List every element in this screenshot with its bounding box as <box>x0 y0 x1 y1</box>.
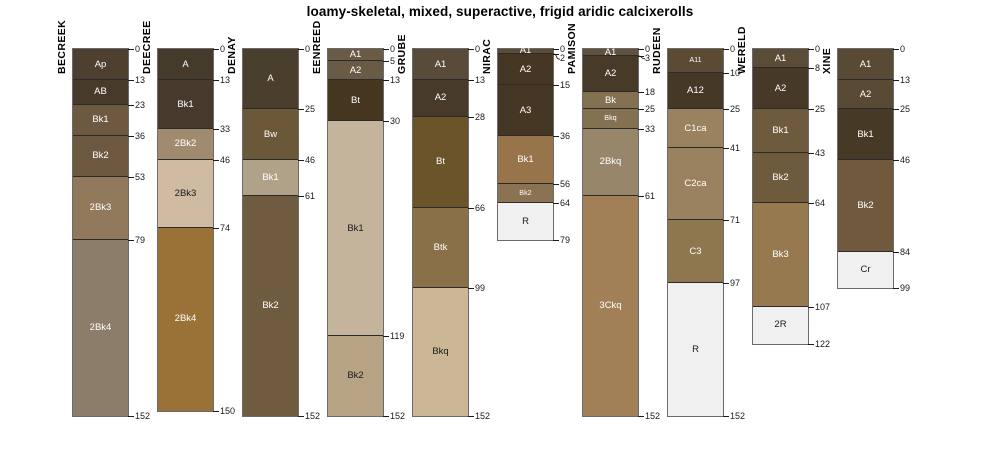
horizon-label: Bw <box>243 130 298 140</box>
depth-tick-label: 30 <box>390 117 400 126</box>
horizon-label: A2 <box>838 90 893 100</box>
depth-tick-mark <box>468 288 474 289</box>
depth-tick-label: 0 <box>220 45 225 54</box>
depth-tick-label: 61 <box>645 192 655 201</box>
depth-tick-label: 99 <box>900 284 910 293</box>
horizon-label: 2Bk3 <box>73 203 128 213</box>
depth-tick-mark <box>383 49 389 50</box>
depth-tick-mark <box>893 80 899 81</box>
depth-tick-mark <box>638 416 644 417</box>
depth-tick-mark <box>723 148 729 149</box>
horizon-label: Bk2 <box>243 301 298 311</box>
depth-tick-mark <box>808 203 814 204</box>
depth-tick-mark <box>638 49 644 50</box>
depth-tick-label: 0 <box>475 45 480 54</box>
depth-tick-mark <box>808 153 814 154</box>
depth-tick-mark <box>723 109 729 110</box>
depth-tick-mark <box>298 196 304 197</box>
horizon-label: Cr <box>838 265 893 275</box>
depth-tick-label: 152 <box>135 412 150 421</box>
depth-tick-label: 64 <box>815 199 825 208</box>
profile-column: A1A2Bk1Bk2Cr <box>837 48 894 289</box>
depth-tick-mark <box>468 117 474 118</box>
profile-name-label: BECREEK <box>56 20 68 74</box>
profile-column: A1A2BtBk1Bk2 <box>327 48 384 417</box>
depth-tick-label: 0 <box>135 45 140 54</box>
depth-tick-mark <box>468 80 474 81</box>
depth-tick-label: 84 <box>900 248 910 257</box>
profile-column: ABwBk1Bk2 <box>242 48 299 417</box>
depth-tick-mark <box>128 105 134 106</box>
depth-tick-mark <box>638 196 644 197</box>
horizon-label: Bk1 <box>243 173 298 183</box>
horizon-label: Bkq <box>413 347 468 357</box>
profile-name-label: EENREED <box>311 20 323 74</box>
depth-tick-label: 15 <box>560 81 570 90</box>
soil-profile-plot: BECREEKApABBk1Bk22Bk32Bk401323365379152D… <box>0 0 1000 450</box>
depth-tick-mark <box>723 283 729 284</box>
horizon-label: A2 <box>498 65 553 75</box>
horizon-label: C3 <box>668 247 723 257</box>
horizon-label: A12 <box>668 86 723 96</box>
depth-tick-label: 152 <box>390 412 405 421</box>
depth-tick-label: 152 <box>730 412 745 421</box>
depth-tick-label: 18 <box>645 88 655 97</box>
depth-tick-mark <box>383 80 389 81</box>
depth-tick-mark <box>808 109 814 110</box>
depth-tick-label: 3 <box>645 54 650 63</box>
depth-tick-mark <box>383 336 389 337</box>
horizon-label: R <box>668 345 723 355</box>
horizon-label: Btk <box>413 243 468 253</box>
horizon-label: A2 <box>413 93 468 103</box>
horizon-label: A1 <box>753 54 808 64</box>
depth-tick-mark <box>638 92 644 93</box>
horizon-label: A1 <box>838 60 893 70</box>
depth-tick-label: 2 <box>560 54 565 63</box>
depth-tick-mark <box>808 344 814 345</box>
horizon-label: A <box>243 74 298 84</box>
profile-column: A1A2Bk1Bk2Bk32R <box>752 48 809 345</box>
horizon-label: 3Ckq <box>583 301 638 311</box>
horizon-label: A2 <box>328 66 383 76</box>
horizon-label: A11 <box>668 56 723 64</box>
horizon-label: Bkq <box>583 114 638 122</box>
depth-tick-mark <box>213 129 219 130</box>
depth-tick-mark <box>808 49 814 50</box>
depth-tick-mark <box>893 288 899 289</box>
horizon-label: A2 <box>753 84 808 94</box>
horizon-label: Bk2 <box>498 189 553 197</box>
depth-tick-mark <box>128 416 134 417</box>
depth-tick-mark <box>723 73 729 74</box>
horizon-label: Bk2 <box>838 201 893 211</box>
horizon-label: 2Bk2 <box>158 139 213 149</box>
depth-tick-label: 150 <box>220 407 235 416</box>
depth-tick-label: 13 <box>135 76 145 85</box>
depth-tick-mark <box>723 416 729 417</box>
depth-tick-mark <box>893 109 899 110</box>
depth-tick-mark <box>213 411 219 412</box>
depth-tick-label: 0 <box>730 45 735 54</box>
depth-tick-mark <box>638 129 644 130</box>
depth-tick-mark <box>383 121 389 122</box>
depth-tick-label: 25 <box>305 105 315 114</box>
depth-tick-mark <box>553 85 559 86</box>
depth-tick-mark <box>213 228 219 229</box>
horizon-label: C1ca <box>668 124 723 134</box>
horizon-label: C2ca <box>668 179 723 189</box>
depth-tick-mark <box>638 56 644 57</box>
depth-tick-label: 53 <box>135 173 145 182</box>
depth-tick-mark <box>128 177 134 178</box>
profile-column: A11A12C1caC2caC3R <box>667 48 724 417</box>
depth-tick-mark <box>553 49 559 50</box>
depth-tick-label: 64 <box>560 199 570 208</box>
profile-column: A1A2A3Bk1Bk2R <box>497 48 554 241</box>
depth-tick-mark <box>808 68 814 69</box>
depth-tick-mark <box>893 160 899 161</box>
horizon-label: Bk2 <box>73 151 128 161</box>
depth-tick-mark <box>128 80 134 81</box>
depth-tick-mark <box>383 416 389 417</box>
profile-name-label: DENAY <box>226 36 238 74</box>
depth-tick-label: 152 <box>475 412 490 421</box>
depth-tick-mark <box>298 416 304 417</box>
depth-tick-mark <box>638 109 644 110</box>
depth-tick-mark <box>553 240 559 241</box>
depth-tick-mark <box>383 61 389 62</box>
depth-tick-label: 61 <box>305 192 315 201</box>
depth-tick-label: 97 <box>730 279 740 288</box>
depth-tick-label: 119 <box>390 332 404 341</box>
horizon-label: 2R <box>753 320 808 330</box>
depth-tick-label: 25 <box>730 105 740 114</box>
horizon-label: AB <box>73 87 128 97</box>
depth-tick-label: 25 <box>815 105 825 114</box>
horizon-label: R <box>498 217 553 227</box>
depth-tick-label: 0 <box>305 45 310 54</box>
profile-column: ABk12Bk22Bk32Bk4 <box>157 48 214 412</box>
horizon-label: A2 <box>583 69 638 79</box>
depth-tick-mark <box>553 54 559 55</box>
horizon-label: Bk1 <box>73 115 128 125</box>
depth-tick-label: 79 <box>560 236 570 245</box>
horizon-label: Bk2 <box>328 371 383 381</box>
depth-tick-mark <box>468 416 474 417</box>
depth-tick-label: 36 <box>135 132 145 141</box>
profile-name-label: WERELD <box>736 26 748 74</box>
depth-tick-mark <box>808 307 814 308</box>
depth-tick-label: 33 <box>220 125 230 134</box>
depth-tick-mark <box>213 49 219 50</box>
profile-column: A1A2BkBkq2Bkq3Ckq <box>582 48 639 417</box>
depth-tick-label: 36 <box>560 132 570 141</box>
depth-tick-label: 41 <box>730 144 740 153</box>
depth-tick-label: 0 <box>815 45 820 54</box>
horizon-label: A1 <box>328 50 383 60</box>
depth-tick-label: 46 <box>305 156 315 165</box>
depth-tick-mark <box>213 80 219 81</box>
depth-tick-label: 13 <box>390 76 400 85</box>
depth-tick-label: 152 <box>645 412 660 421</box>
horizon-label: Bk1 <box>158 100 213 110</box>
depth-tick-mark <box>298 109 304 110</box>
depth-tick-label: 0 <box>900 45 905 54</box>
horizon-label: A1 <box>413 60 468 70</box>
depth-tick-label: 66 <box>475 204 485 213</box>
profile-column: ApABBk1Bk22Bk32Bk4 <box>72 48 129 417</box>
profile-name-label: NIRAC <box>481 39 493 74</box>
depth-tick-mark <box>468 49 474 50</box>
depth-tick-label: 99 <box>475 284 485 293</box>
profile-name-label: PAMISON <box>566 23 578 74</box>
profile-name-label: XINE <box>821 48 833 74</box>
depth-tick-mark <box>553 184 559 185</box>
horizon-label: 2Bk3 <box>158 189 213 199</box>
depth-tick-label: 0 <box>390 45 395 54</box>
depth-tick-mark <box>553 203 559 204</box>
depth-tick-mark <box>213 160 219 161</box>
depth-tick-label: 13 <box>475 76 485 85</box>
depth-tick-mark <box>893 252 899 253</box>
depth-tick-label: 107 <box>815 303 830 312</box>
depth-tick-label: 152 <box>305 412 320 421</box>
depth-tick-mark <box>553 136 559 137</box>
depth-tick-label: 46 <box>900 156 910 165</box>
depth-tick-label: 43 <box>815 149 825 158</box>
horizon-label: Bk1 <box>753 126 808 136</box>
profile-name-label: GRUBE <box>396 34 408 74</box>
horizon-label: Bk <box>583 96 638 106</box>
horizon-label: Bk1 <box>498 155 553 165</box>
depth-tick-label: 13 <box>220 76 230 85</box>
depth-tick-mark <box>128 49 134 50</box>
depth-tick-label: 122 <box>815 340 830 349</box>
horizon-label: 2Bk4 <box>158 314 213 324</box>
horizon-label: Bk2 <box>753 173 808 183</box>
profile-name-label: DEECREE <box>141 20 153 74</box>
horizon-label: Bk1 <box>328 224 383 234</box>
depth-tick-label: 8 <box>815 64 820 73</box>
profile-column: A1A2BtBtkBkq <box>412 48 469 417</box>
depth-tick-label: 25 <box>900 105 910 114</box>
depth-tick-mark <box>128 240 134 241</box>
horizon-label: Ap <box>73 60 128 70</box>
horizon-label: A3 <box>498 106 553 116</box>
depth-tick-mark <box>723 49 729 50</box>
depth-tick-mark <box>468 208 474 209</box>
horizon-label: Bk1 <box>838 130 893 140</box>
depth-tick-mark <box>298 49 304 50</box>
depth-tick-label: 13 <box>900 76 910 85</box>
depth-tick-mark <box>893 49 899 50</box>
depth-tick-label: 23 <box>135 101 145 110</box>
horizon-label: A <box>158 60 213 70</box>
horizon-label: Bt <box>413 157 468 167</box>
depth-tick-label: 74 <box>220 224 230 233</box>
depth-tick-label: 28 <box>475 113 485 122</box>
depth-tick-label: 79 <box>135 236 145 245</box>
depth-tick-label: 56 <box>560 180 570 189</box>
depth-tick-mark <box>298 160 304 161</box>
depth-tick-label: 46 <box>220 156 230 165</box>
horizon-label: 2Bkq <box>583 157 638 167</box>
profile-name-label: RUDEEN <box>651 27 663 74</box>
depth-tick-label: 71 <box>730 216 740 225</box>
depth-tick-mark <box>128 136 134 137</box>
horizon-label: Bk3 <box>753 250 808 260</box>
depth-tick-label: 33 <box>645 125 655 134</box>
depth-tick-label: 5 <box>390 57 395 66</box>
depth-tick-label: 25 <box>645 105 655 114</box>
depth-tick-mark <box>723 220 729 221</box>
horizon-label: Bt <box>328 96 383 106</box>
horizon-label: 2Bk4 <box>73 323 128 333</box>
